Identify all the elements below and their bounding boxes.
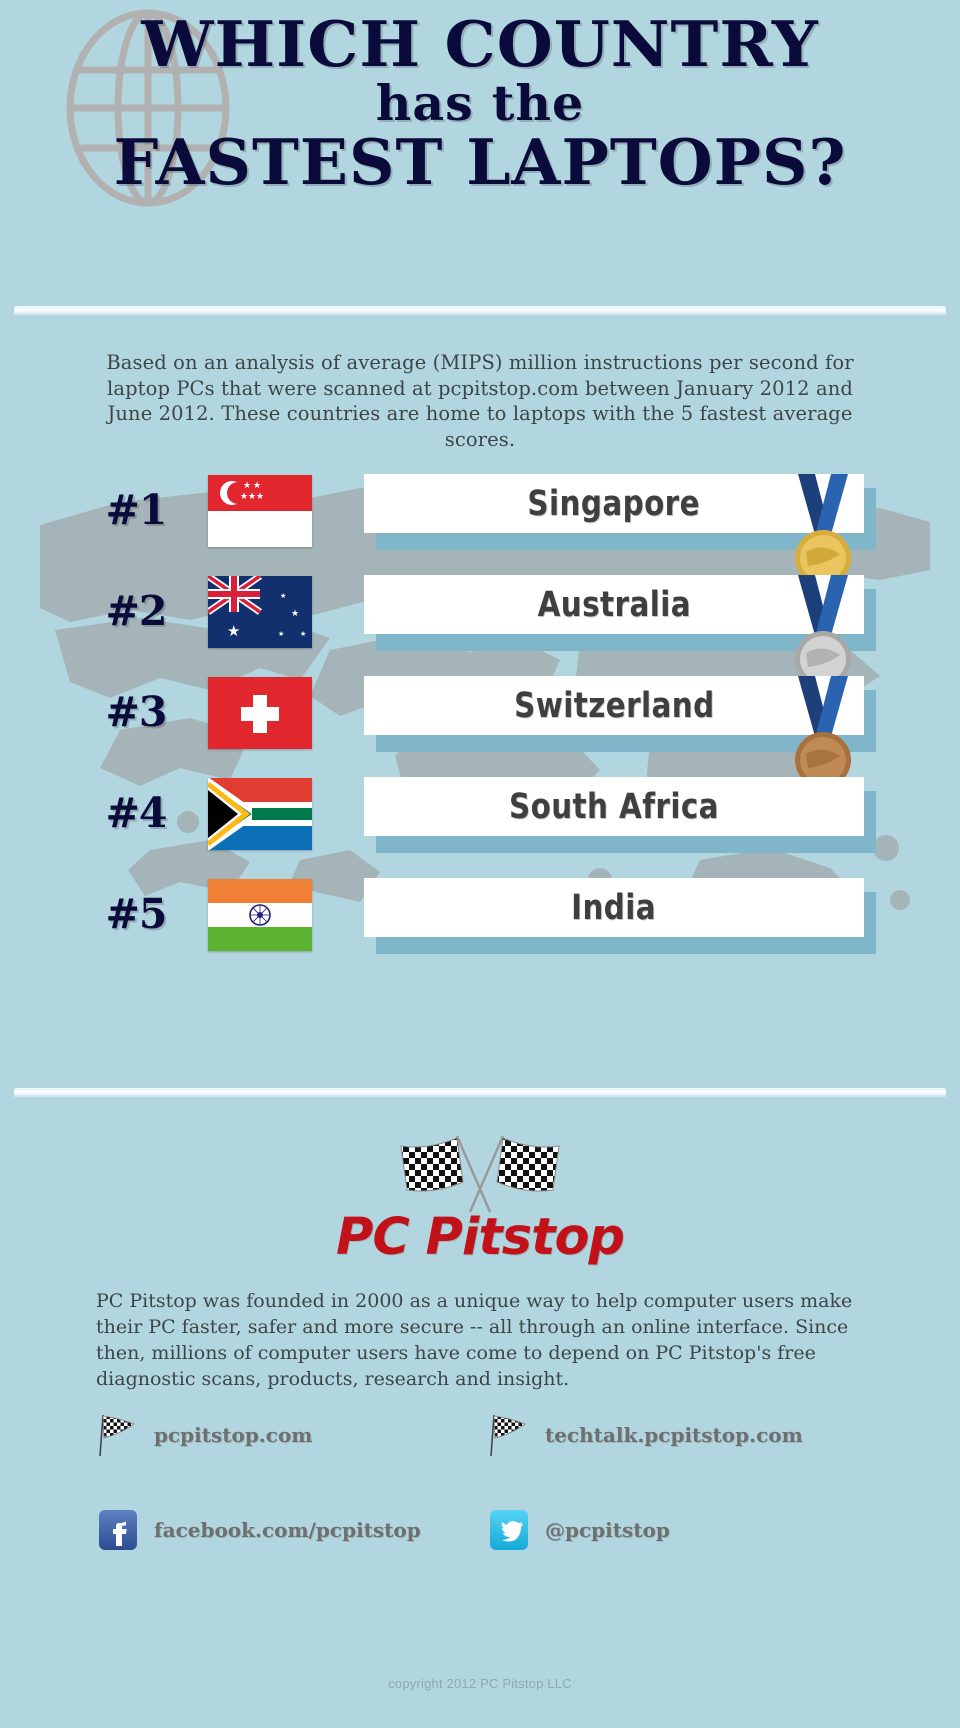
divider-bottom	[14, 1088, 946, 1099]
svg-text:★: ★	[291, 608, 299, 618]
svg-text:★: ★	[248, 491, 256, 501]
link-label: @pcpitstop	[545, 1518, 670, 1542]
svg-text:★: ★	[227, 624, 240, 640]
rank-number: #2	[96, 587, 176, 635]
country-name: Singapore	[528, 484, 701, 524]
country-bar: Australia	[364, 575, 864, 647]
brand-logo: PC Pitstop	[0, 1128, 960, 1267]
country-name: South Africa	[509, 787, 719, 827]
page-title: WHICH COUNTRY has the FASTEST LAPTOPS?	[0, 14, 960, 192]
link-twitter[interactable]: @pcpitstop	[487, 1507, 670, 1553]
rank-number: #1	[96, 486, 176, 534]
links-row-social: facebook.com/pcpitstop @pcpitstop	[0, 1507, 960, 1602]
checkered-racing-flags-icon	[385, 1128, 575, 1218]
copyright-text: copyright 2012 PC Pitstop LLC	[0, 1676, 960, 1691]
country-name: India	[572, 888, 657, 928]
country-bar: South Africa	[364, 777, 864, 849]
link-label: techtalk.pcpitstop.com	[545, 1423, 803, 1447]
link-label: pcpitstop.com	[154, 1423, 312, 1447]
link-label: facebook.com/pcpitstop	[154, 1518, 421, 1542]
footer-links: pcpitstop.com techtalk.pcpitstop.com	[0, 1412, 960, 1602]
checkered-flag-icon	[96, 1412, 140, 1458]
flag-singapore: ★★ ★★★	[208, 475, 312, 547]
svg-text:★: ★	[240, 491, 248, 501]
svg-text:★: ★	[278, 630, 284, 638]
ranking-list: #1 ★★ ★★★ Singapore	[0, 462, 960, 967]
links-row-websites: pcpitstop.com techtalk.pcpitstop.com	[0, 1412, 960, 1507]
link-pcpitstop-com[interactable]: pcpitstop.com	[96, 1412, 312, 1458]
rank-number: #3	[96, 688, 176, 736]
brand-wordmark: PC Pitstop	[0, 1208, 960, 1267]
ranking-row: #4	[0, 765, 960, 866]
flag-india	[208, 879, 312, 951]
country-bar: India	[364, 878, 864, 950]
intro-paragraph: Based on an analysis of average (MIPS) m…	[88, 350, 872, 453]
svg-text:★: ★	[243, 480, 251, 490]
country-bar: Singapore	[364, 474, 864, 546]
link-techtalk-pcpitstop-com[interactable]: techtalk.pcpitstop.com	[487, 1412, 803, 1458]
flag-south-africa	[208, 778, 312, 850]
country-name: Switzerland	[514, 686, 715, 726]
bar-face: India	[364, 878, 864, 937]
facebook-icon	[96, 1507, 140, 1553]
title-line-2: has the	[0, 80, 960, 127]
rank-number: #5	[96, 890, 176, 938]
ranking-row: #2 ★ ★ ★ ★	[0, 563, 960, 664]
svg-text:★: ★	[280, 592, 286, 600]
divider-top	[14, 306, 946, 317]
ranking-row: #5 India	[0, 866, 960, 967]
flag-australia: ★ ★ ★ ★ ★	[208, 576, 312, 648]
svg-text:★: ★	[300, 630, 306, 638]
checkered-flag-icon	[487, 1412, 531, 1458]
about-paragraph: PC Pitstop was founded in 2000 as a uniq…	[96, 1288, 876, 1392]
ranking-row: #1 ★★ ★★★ Singapore	[0, 462, 960, 563]
infographic-canvas: WHICH COUNTRY has the FASTEST LAPTOPS? B…	[0, 0, 960, 1728]
rank-number: #4	[96, 789, 176, 837]
bar-face: South Africa	[364, 777, 864, 836]
title-line-1: WHICH COUNTRY	[0, 14, 960, 74]
twitter-icon	[487, 1507, 531, 1553]
svg-text:★: ★	[256, 491, 264, 501]
ranking-row: #3 Switzerland	[0, 664, 960, 765]
flag-switzerland	[208, 677, 312, 749]
svg-text:★: ★	[253, 480, 261, 490]
title-line-3: FASTEST LAPTOPS?	[0, 132, 960, 192]
country-bar: Switzerland	[364, 676, 864, 748]
link-facebook[interactable]: facebook.com/pcpitstop	[96, 1507, 421, 1553]
country-name: Australia	[537, 585, 690, 625]
